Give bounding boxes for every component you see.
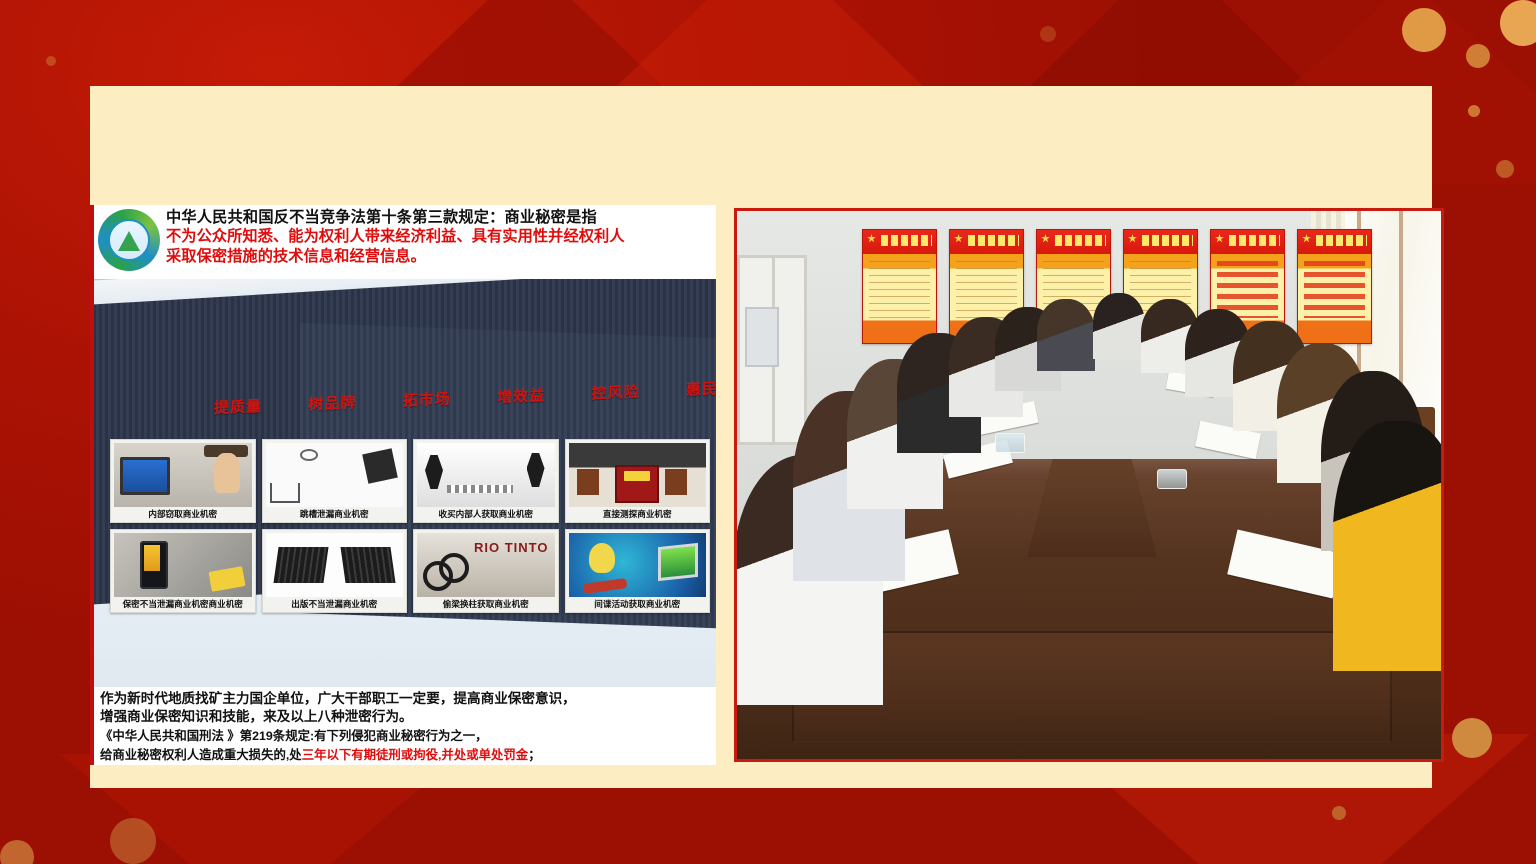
company-logo-icon xyxy=(98,209,160,271)
bokeh-dot xyxy=(110,818,156,864)
slogan-word: 树品牌 xyxy=(308,392,356,415)
factory-building-photo: 提质量 树品牌 拓市场 增效益 控风险 惠民生 内部窃取商业机密 跳槽泄漏商业机… xyxy=(94,279,716,689)
leak-method-card: 保密不当泄漏商业机密商业机密 xyxy=(110,529,256,613)
law-heading-line-3: 采取保密措施的技术信息和经营信息。 xyxy=(166,247,625,267)
criminal-law-line-1: 《中华人民共和国刑法 》第219条规定:有下列侵犯商业秘密行为之一， xyxy=(100,729,714,745)
card-illustration xyxy=(569,533,707,597)
bokeh-dot xyxy=(1452,718,1492,758)
card-caption: 间谍活动获取商业机密 xyxy=(569,597,707,612)
attendee xyxy=(1037,299,1095,371)
card-caption: 出版不当泄漏商业机密 xyxy=(266,597,404,612)
slogan-word: 提质量 xyxy=(214,395,262,418)
leak-method-card: 收买内部人获取商业机密 xyxy=(413,439,559,523)
leak-method-card: 出版不当泄漏商业机密 xyxy=(262,529,408,613)
bokeh-dot xyxy=(1402,8,1446,52)
law-heading-line-1: 中华人民共和国反不当竞争法第十条第三款规定：商业秘密是指 xyxy=(166,208,625,227)
card-illustration xyxy=(266,533,404,597)
bokeh-dot xyxy=(1496,160,1514,178)
bokeh-dot xyxy=(1040,26,1056,42)
leak-method-card-grid: 内部窃取商业机密 跳槽泄漏商业机密 收买内部人获取商业机密 直接测探商业机密 保 xyxy=(110,439,710,613)
criminal-law-line-2: 给商业秘密权利人造成重大损失的,处三年以下有期徒刑或拘役,并处或单处罚金； xyxy=(100,748,714,764)
card-caption: 偷梁换柱获取商业机密 xyxy=(417,597,555,612)
bokeh-dot xyxy=(1332,806,1346,820)
slogan-word: 拓市场 xyxy=(403,388,451,411)
card-caption: 保密不当泄漏商业机密商业机密 xyxy=(114,597,252,612)
slogan-word: 增效益 xyxy=(497,384,545,407)
awareness-paragraph-line-2: 增强商业保密知识和技能，来及以上八种泄密行为。 xyxy=(100,708,714,726)
card-illustration xyxy=(569,443,707,507)
criminal-law-line-2-tail: ； xyxy=(528,748,540,762)
poster-header: 中华人民共和国反不当竞争法第十条第三款规定：商业秘密是指 不为公众所知悉、能为权… xyxy=(94,205,716,279)
tree-glyph xyxy=(118,231,140,251)
bokeh-dot xyxy=(1468,105,1480,117)
card-illustration xyxy=(266,443,404,507)
meeting-room-photo xyxy=(734,208,1444,762)
criminal-law-line-2-red: 三年以下有期徒刑或拘役,并处或单处罚金 xyxy=(302,748,528,762)
poster-footer-text: 作为新时代地质找矿主力国企单位，广大干部职工一定要，提高商业保密意识， 增强商业… xyxy=(94,687,716,765)
card-illustration xyxy=(114,443,252,507)
criminal-law-line-2-black: 给商业秘密权利人造成重大损失的,处 xyxy=(100,748,302,762)
awareness-paragraph-line-1: 作为新时代地质找矿主力国企单位，广大干部职工一定要，提高商业保密意识， xyxy=(100,690,714,708)
attendee xyxy=(1333,421,1444,671)
bokeh-dot xyxy=(46,56,56,66)
card-illustration xyxy=(417,443,555,507)
leak-method-card: 内部窃取商业机密 xyxy=(110,439,256,523)
slide-canvas: 中华人民共和国反不当竞争法第十条第三款规定：商业秘密是指 不为公众所知悉、能为权… xyxy=(90,86,1432,788)
wall-cabinet xyxy=(745,307,779,367)
law-heading-line-2: 不为公众所知悉、能为权利人带来经济利益、具有实用性并经权利人 xyxy=(166,227,625,247)
drinking-glass xyxy=(995,433,1025,453)
card-caption: 跳槽泄漏商业机密 xyxy=(266,507,404,522)
card-art-label: RIO TINTO xyxy=(474,541,548,554)
card-caption: 收买内部人获取商业机密 xyxy=(417,507,555,522)
trade-secret-infographic: 中华人民共和国反不当竞争法第十条第三款规定：商业秘密是指 不为公众所知悉、能为权… xyxy=(90,205,716,765)
leak-method-card: 直接测探商业机密 xyxy=(565,439,711,523)
leak-method-card: 跳槽泄漏商业机密 xyxy=(262,439,408,523)
leak-method-card: 间谍活动获取商业机密 xyxy=(565,529,711,613)
attendee xyxy=(1093,293,1145,359)
leak-method-card: RIO TINTO 偷梁换柱获取商业机密 xyxy=(413,529,559,613)
card-illustration xyxy=(114,533,252,597)
party-regulation-wall-poster xyxy=(862,229,937,344)
drinking-glass xyxy=(1157,469,1187,489)
slogan-word: 惠民生 xyxy=(686,377,716,400)
poster-header-text: 中华人民共和国反不当竞争法第十条第三款规定：商业秘密是指 不为公众所知悉、能为权… xyxy=(166,207,625,266)
card-caption: 内部窃取商业机密 xyxy=(114,507,252,522)
slogan-word: 控风险 xyxy=(592,381,640,404)
card-caption: 直接测探商业机密 xyxy=(569,507,707,522)
party-regulation-wall-poster xyxy=(1297,229,1372,344)
bokeh-dot xyxy=(1466,44,1490,68)
card-illustration: RIO TINTO xyxy=(417,533,555,597)
